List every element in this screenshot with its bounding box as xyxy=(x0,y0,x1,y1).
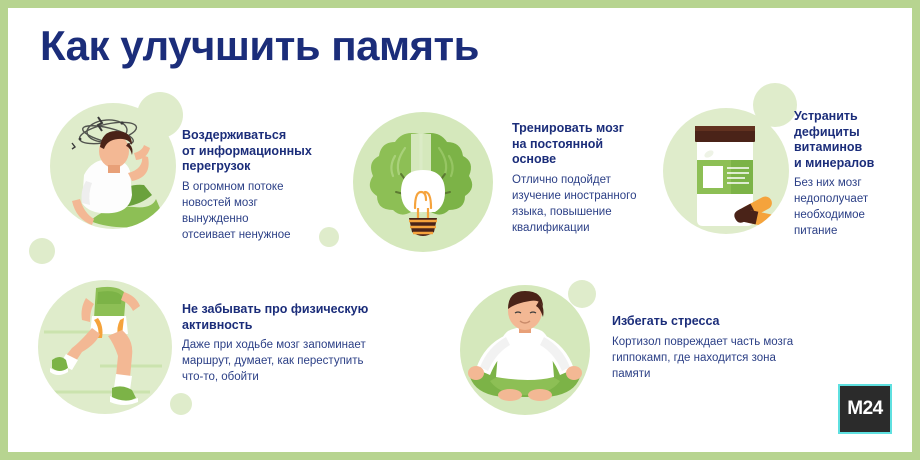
tip-body-vitamins: Без них мозг недополучает необходимое пи… xyxy=(794,175,914,239)
tip-heading-physical-activity: Не забывать про физическую активность xyxy=(182,302,412,333)
running-man-illustration xyxy=(38,280,172,414)
m24-logo-text: M24 xyxy=(847,398,882,420)
vitamin-bottle-illustration xyxy=(663,108,789,234)
tip-block-avoid-stress: Избегать стресса Кортизол повреждает час… xyxy=(612,314,842,382)
tip-block-vitamins: Устранить дефициты витаминов и минералов… xyxy=(794,109,914,239)
page-title: Как улучшить память xyxy=(40,22,479,70)
tip-body-physical-activity: Даже при ходьбе мозг запоминает маршрут,… xyxy=(182,337,412,385)
tip-block-train-brain: Тренировать мозг на постоянной основе От… xyxy=(512,121,657,236)
tip-body-info-overload: В огромном потоке новостей мозг вынужден… xyxy=(182,179,332,243)
infographic-canvas: Как улучшить память xyxy=(0,0,920,460)
stressed-man-illustration xyxy=(50,103,176,229)
tip-heading-train-brain: Тренировать мозг на постоянной основе xyxy=(512,121,657,168)
m24-logo: M24 xyxy=(838,384,892,434)
decor-circle-5 xyxy=(568,280,596,308)
tip-body-train-brain: Отлично подойдет изучение иностранного я… xyxy=(512,172,657,236)
tip-block-info-overload: Воздерживаться от информационных перегру… xyxy=(182,128,332,243)
infographic-inner: Как улучшить память xyxy=(8,8,912,452)
tip-block-physical-activity: Не забывать про физическую активность Да… xyxy=(182,302,412,385)
decor-circle-2 xyxy=(29,238,55,264)
brain-lightbulb-illustration xyxy=(353,112,493,252)
tip-heading-vitamins: Устранить дефициты витаминов и минералов xyxy=(794,109,914,171)
tip-heading-info-overload: Воздерживаться от информационных перегру… xyxy=(182,128,332,175)
tip-heading-avoid-stress: Избегать стресса xyxy=(612,314,842,330)
meditating-man-illustration xyxy=(460,285,590,415)
decor-circle-6 xyxy=(170,393,192,415)
tip-body-avoid-stress: Кортизол повреждает часть мозга гиппокам… xyxy=(612,334,842,382)
